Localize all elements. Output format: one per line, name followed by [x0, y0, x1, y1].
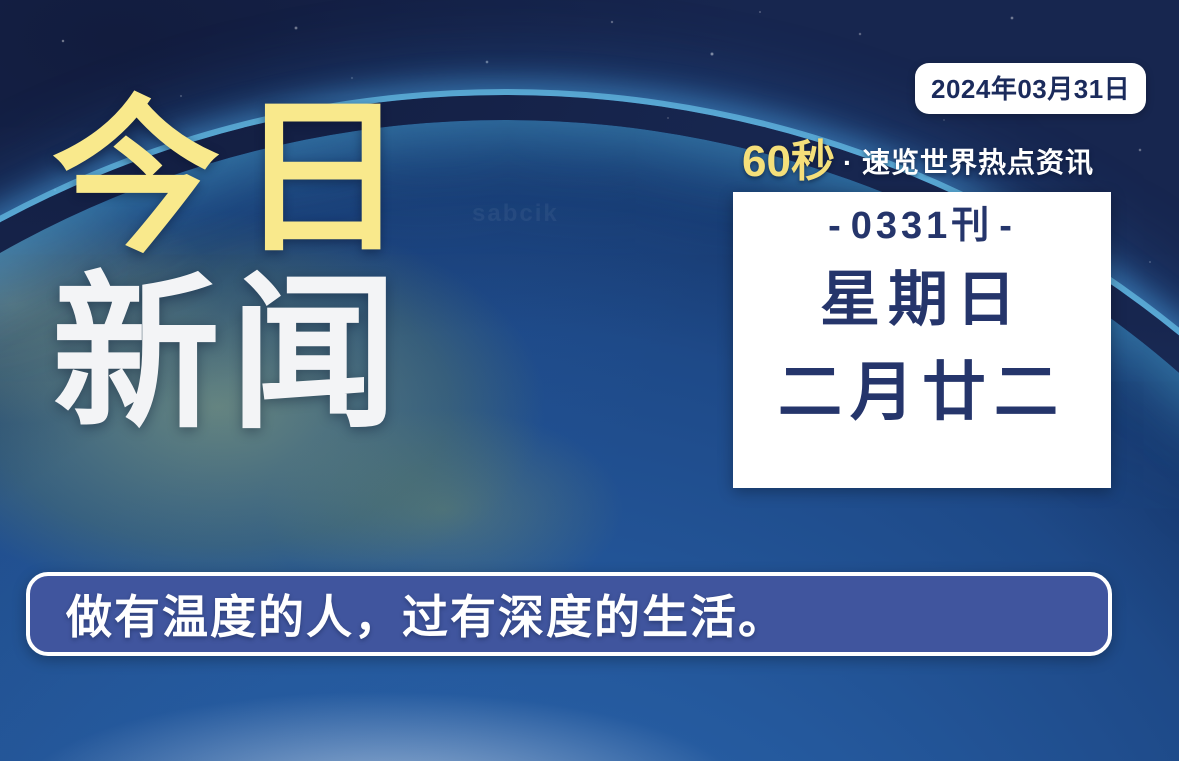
issue-dash-right: - [999, 205, 1016, 247]
title-line-news: 新闻 [52, 270, 424, 438]
subtitle-highlight: 60秒 [742, 137, 835, 186]
date-badge: 2024年03月31日 [915, 63, 1146, 114]
issue-dash-left: - [828, 205, 845, 247]
page-title: 今日 新闻 [52, 94, 424, 438]
issue-number-row: -0331刊- [822, 206, 1022, 248]
subtitle-rest: · 速览世界热点资讯 [843, 147, 1094, 178]
issue-card: -0331刊- 星期日 二月廿二 [733, 192, 1111, 488]
watermark-text: sabcik [472, 200, 559, 228]
weekday-label: 星期日 [820, 270, 1024, 330]
slogan-text: 做有温度的人，过有深度的生活。 [66, 581, 786, 647]
subtitle: 60秒· 速览世界热点资讯 [742, 140, 1094, 184]
slogan-banner: 做有温度的人，过有深度的生活。 [26, 572, 1112, 656]
news-poster: sabcik 今日 新闻 2024年03月31日 60秒· 速览世界热点资讯 -… [0, 0, 1179, 761]
lunar-date-label: 二月廿二 [778, 360, 1066, 424]
title-line-today: 今日 [52, 94, 424, 262]
issue-number: 0331刊 [851, 205, 994, 247]
